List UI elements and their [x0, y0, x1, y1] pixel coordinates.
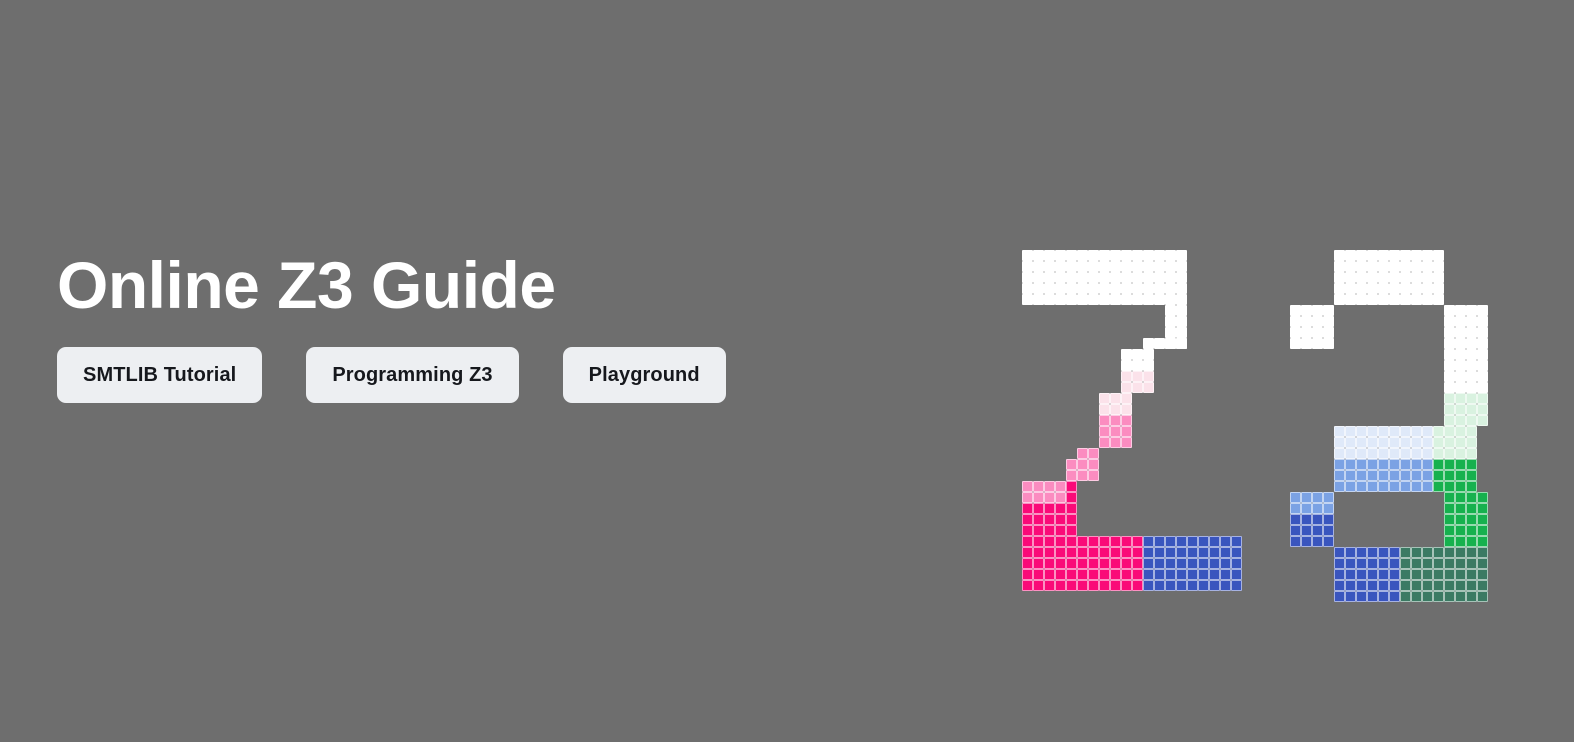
logo-pixel: [1044, 525, 1055, 536]
logo-pixel: [1433, 470, 1444, 481]
logo-pixel: [1378, 580, 1389, 591]
logo-pixel: [1066, 272, 1077, 283]
logo-pixel: [1154, 536, 1165, 547]
hero-button-row: SMTLIB Tutorial Programming Z3 Playgroun…: [57, 347, 977, 403]
logo-pixel: [1312, 525, 1323, 536]
logo-pixel: [1378, 459, 1389, 470]
logo-pixel: [1099, 426, 1110, 437]
logo-pixel: [1143, 338, 1154, 349]
logo-pixel: [1301, 327, 1312, 338]
logo-pixel: [1466, 371, 1477, 382]
logo-pixel: [1378, 426, 1389, 437]
logo-pixel: [1389, 558, 1400, 569]
logo-pixel: [1209, 547, 1220, 558]
logo-pixel: [1121, 393, 1132, 404]
logo-pixel: [1477, 569, 1488, 580]
logo-pixel: [1154, 261, 1165, 272]
logo-pixel: [1099, 250, 1110, 261]
logo-pixel: [1367, 470, 1378, 481]
logo-pixel: [1466, 338, 1477, 349]
logo-pixel: [1455, 591, 1466, 602]
logo-pixel: [1367, 569, 1378, 580]
logo-pixel: [1066, 503, 1077, 514]
z3-pixel-logo: [1012, 250, 1532, 595]
logo-pixel: [1444, 569, 1455, 580]
logo-pixel: [1301, 536, 1312, 547]
logo-pixel: [1022, 261, 1033, 272]
logo-pixel: [1433, 569, 1444, 580]
logo-pixel: [1033, 547, 1044, 558]
logo-pixel: [1389, 437, 1400, 448]
logo-pixel: [1165, 580, 1176, 591]
logo-pixel: [1334, 426, 1345, 437]
programming-z3-button[interactable]: Programming Z3: [306, 347, 518, 403]
logo-pixel: [1121, 415, 1132, 426]
logo-pixel: [1389, 569, 1400, 580]
logo-pixel: [1022, 250, 1033, 261]
logo-pixel: [1055, 492, 1066, 503]
logo-pixel: [1066, 481, 1077, 492]
logo-pixel: [1022, 580, 1033, 591]
logo-pixel: [1033, 536, 1044, 547]
logo-pixel: [1411, 250, 1422, 261]
logo-pixel: [1444, 525, 1455, 536]
logo-pixel: [1301, 525, 1312, 536]
logo-pixel: [1154, 580, 1165, 591]
logo-pixel: [1143, 261, 1154, 272]
logo-pixel: [1378, 272, 1389, 283]
logo-pixel: [1477, 404, 1488, 415]
logo-pixel: [1345, 558, 1356, 569]
logo-pixel: [1345, 580, 1356, 591]
logo-pixel: [1176, 283, 1187, 294]
logo-pixel: [1466, 514, 1477, 525]
logo-pixel: [1378, 481, 1389, 492]
logo-pixel: [1455, 514, 1466, 525]
logo-pixel: [1077, 272, 1088, 283]
logo-pixel: [1055, 569, 1066, 580]
logo-pixel: [1334, 261, 1345, 272]
logo-pixel: [1121, 294, 1132, 305]
logo-pixel: [1312, 305, 1323, 316]
logo-pixel: [1455, 305, 1466, 316]
logo-pixel: [1433, 261, 1444, 272]
logo-pixel: [1334, 481, 1345, 492]
logo-pixel: [1455, 415, 1466, 426]
logo-pixel: [1132, 371, 1143, 382]
logo-pixel: [1088, 272, 1099, 283]
logo-pixel: [1389, 591, 1400, 602]
logo-pixel: [1323, 503, 1334, 514]
logo-pixel: [1345, 272, 1356, 283]
logo-pixel: [1033, 294, 1044, 305]
logo-pixel: [1154, 294, 1165, 305]
logo-pixel: [1099, 404, 1110, 415]
logo-pixel: [1444, 349, 1455, 360]
logo-pixel: [1411, 558, 1422, 569]
logo-pixel: [1433, 250, 1444, 261]
logo-pixel: [1132, 261, 1143, 272]
logo-pixel: [1132, 250, 1143, 261]
logo-pixel: [1121, 349, 1132, 360]
logo-pixel: [1323, 492, 1334, 503]
logo-pixel: [1411, 580, 1422, 591]
logo-pixel: [1290, 503, 1301, 514]
logo-pixel: [1044, 514, 1055, 525]
logo-pixel: [1110, 569, 1121, 580]
logo-pixel: [1077, 261, 1088, 272]
logo-pixel: [1389, 272, 1400, 283]
logo-pixel: [1099, 558, 1110, 569]
logo-pixel: [1121, 404, 1132, 415]
logo-pixel: [1055, 503, 1066, 514]
logo-pixel: [1176, 580, 1187, 591]
logo-pixel: [1455, 404, 1466, 415]
logo-pixel: [1033, 283, 1044, 294]
logo-pixel: [1301, 305, 1312, 316]
logo-pixel: [1312, 316, 1323, 327]
logo-pixel: [1334, 459, 1345, 470]
logo-pixel: [1165, 261, 1176, 272]
logo-pixel: [1132, 349, 1143, 360]
logo-pixel: [1033, 250, 1044, 261]
logo-pixel: [1066, 261, 1077, 272]
logo-pixel: [1198, 536, 1209, 547]
smtlib-tutorial-button[interactable]: SMTLIB Tutorial: [57, 347, 262, 403]
logo-pixel: [1422, 294, 1433, 305]
logo-pixel: [1110, 283, 1121, 294]
logo-pixel: [1143, 272, 1154, 283]
logo-pixel: [1422, 426, 1433, 437]
logo-pixel: [1466, 569, 1477, 580]
logo-pixel: [1066, 569, 1077, 580]
logo-pixel: [1378, 569, 1389, 580]
logo-pixel: [1165, 294, 1176, 305]
logo-pixel: [1444, 558, 1455, 569]
logo-pixel: [1356, 580, 1367, 591]
logo-pixel: [1356, 569, 1367, 580]
logo-pixel: [1477, 547, 1488, 558]
logo-pixel: [1077, 536, 1088, 547]
logo-pixel: [1444, 580, 1455, 591]
logo-pixel: [1433, 481, 1444, 492]
logo-pixel: [1312, 338, 1323, 349]
logo-pixel: [1444, 437, 1455, 448]
logo-pixel: [1345, 470, 1356, 481]
logo-pixel: [1099, 283, 1110, 294]
logo-pixel: [1154, 250, 1165, 261]
logo-pixel: [1165, 305, 1176, 316]
logo-pixel: [1356, 272, 1367, 283]
logo-pixel: [1121, 558, 1132, 569]
logo-pixel: [1121, 283, 1132, 294]
logo-pixel: [1033, 525, 1044, 536]
logo-pixel: [1411, 448, 1422, 459]
logo-pixel: [1022, 536, 1033, 547]
logo-pixel: [1356, 481, 1367, 492]
logo-pixel: [1121, 360, 1132, 371]
logo-pixel: [1187, 558, 1198, 569]
logo-pixel: [1055, 514, 1066, 525]
logo-pixel: [1044, 503, 1055, 514]
logo-pixel: [1422, 558, 1433, 569]
logo-pixel: [1455, 371, 1466, 382]
logo-pixel: [1033, 580, 1044, 591]
logo-pixel: [1356, 426, 1367, 437]
logo-pixel: [1345, 547, 1356, 558]
logo-pixel: [1477, 580, 1488, 591]
logo-pixel: [1444, 470, 1455, 481]
logo-pixel: [1345, 569, 1356, 580]
logo-pixel: [1088, 294, 1099, 305]
logo-pixel: [1444, 492, 1455, 503]
logo-pixel: [1466, 426, 1477, 437]
logo-pixel: [1301, 514, 1312, 525]
logo-pixel: [1455, 459, 1466, 470]
logo-pixel: [1088, 250, 1099, 261]
logo-pixel: [1077, 558, 1088, 569]
logo-pixel: [1066, 459, 1077, 470]
logo-pixel: [1411, 437, 1422, 448]
logo-pixel: [1334, 250, 1345, 261]
logo-pixel: [1477, 591, 1488, 602]
logo-pixel: [1323, 536, 1334, 547]
logo-pixel: [1290, 525, 1301, 536]
logo-pixel: [1088, 558, 1099, 569]
logo-pixel: [1455, 481, 1466, 492]
logo-pixel: [1433, 558, 1444, 569]
logo-pixel: [1455, 536, 1466, 547]
logo-pixel: [1165, 316, 1176, 327]
logo-pixel: [1033, 261, 1044, 272]
logo-pixel: [1077, 470, 1088, 481]
logo-pixel: [1455, 360, 1466, 371]
logo-pixel: [1209, 569, 1220, 580]
logo-pixel: [1143, 371, 1154, 382]
logo-pixel: [1187, 569, 1198, 580]
logo-pixel: [1044, 250, 1055, 261]
logo-pixel: [1400, 459, 1411, 470]
logo-pixel: [1231, 536, 1242, 547]
logo-pixel: [1055, 580, 1066, 591]
logo-pixel: [1055, 272, 1066, 283]
logo-pixel: [1466, 305, 1477, 316]
logo-pixel: [1422, 591, 1433, 602]
logo-pixel: [1176, 569, 1187, 580]
logo-pixel: [1367, 459, 1378, 470]
logo-pixel: [1099, 580, 1110, 591]
logo-pixel: [1077, 283, 1088, 294]
logo-pixel: [1209, 580, 1220, 591]
logo-pixel: [1444, 371, 1455, 382]
logo-pixel: [1066, 492, 1077, 503]
logo-pixel: [1345, 294, 1356, 305]
logo-pixel: [1378, 547, 1389, 558]
logo-pixel: [1033, 481, 1044, 492]
logo-pixel: [1312, 514, 1323, 525]
logo-pixel: [1389, 470, 1400, 481]
logo-pixel: [1077, 250, 1088, 261]
logo-pixel: [1345, 437, 1356, 448]
logo-pixel: [1334, 272, 1345, 283]
logo-pixel: [1466, 415, 1477, 426]
logo-pixel: [1209, 558, 1220, 569]
logo-pixel: [1121, 437, 1132, 448]
logo-pixel: [1466, 448, 1477, 459]
logo-pixel: [1433, 426, 1444, 437]
logo-pixel: [1143, 536, 1154, 547]
logo-pixel: [1477, 360, 1488, 371]
logo-pixel: [1378, 250, 1389, 261]
logo-pixel: [1088, 283, 1099, 294]
logo-pixel: [1044, 536, 1055, 547]
logo-pixel: [1176, 305, 1187, 316]
logo-pixel: [1176, 250, 1187, 261]
logo-pixel: [1334, 591, 1345, 602]
logo-pixel: [1477, 371, 1488, 382]
logo-pixel: [1433, 283, 1444, 294]
logo-pixel: [1121, 272, 1132, 283]
logo-pixel: [1433, 547, 1444, 558]
logo-pixel: [1356, 261, 1367, 272]
logo-pixel: [1044, 558, 1055, 569]
logo-pixel: [1444, 547, 1455, 558]
logo-pixel: [1411, 481, 1422, 492]
logo-pixel: [1444, 305, 1455, 316]
logo-pixel: [1466, 327, 1477, 338]
logo-pixel: [1099, 569, 1110, 580]
logo-pixel: [1400, 283, 1411, 294]
logo-pixel: [1334, 448, 1345, 459]
logo-pixel: [1367, 437, 1378, 448]
logo-pixel: [1077, 448, 1088, 459]
logo-pixel: [1121, 580, 1132, 591]
logo-pixel: [1466, 349, 1477, 360]
logo-pixel: [1220, 547, 1231, 558]
logo-pixel: [1110, 261, 1121, 272]
logo-pixel: [1198, 547, 1209, 558]
logo-pixel: [1477, 349, 1488, 360]
logo-pixel: [1121, 536, 1132, 547]
logo-pixel: [1301, 492, 1312, 503]
logo-pixel: [1066, 558, 1077, 569]
logo-pixel: [1323, 327, 1334, 338]
logo-pixel: [1033, 514, 1044, 525]
logo-pixel: [1400, 569, 1411, 580]
logo-pixel: [1455, 393, 1466, 404]
playground-button[interactable]: Playground: [563, 347, 726, 403]
logo-pixel: [1066, 283, 1077, 294]
logo-pixel: [1367, 272, 1378, 283]
logo-pixel: [1055, 536, 1066, 547]
logo-pixel: [1334, 580, 1345, 591]
logo-pixel: [1022, 492, 1033, 503]
logo-pixel: [1378, 591, 1389, 602]
logo-pixel: [1455, 382, 1466, 393]
logo-pixel: [1378, 448, 1389, 459]
logo-pixel: [1389, 547, 1400, 558]
logo-pixel: [1334, 437, 1345, 448]
logo-pixel: [1110, 294, 1121, 305]
logo-pixel: [1400, 580, 1411, 591]
hero-left-column: Online Z3 Guide SMTLIB Tutorial Programm…: [57, 252, 977, 403]
logo-pixel: [1411, 591, 1422, 602]
logo-pixel: [1444, 514, 1455, 525]
logo-pixel: [1411, 547, 1422, 558]
logo-pixel: [1378, 558, 1389, 569]
logo-pixel: [1444, 338, 1455, 349]
logo-pixel: [1022, 283, 1033, 294]
logo-pixel: [1389, 283, 1400, 294]
logo-pixel: [1323, 514, 1334, 525]
logo-pixel: [1312, 536, 1323, 547]
logo-pixel: [1455, 470, 1466, 481]
logo-pixel: [1389, 426, 1400, 437]
logo-pixel: [1334, 547, 1345, 558]
logo-pixel: [1022, 525, 1033, 536]
logo-pixel: [1088, 470, 1099, 481]
logo-pixel: [1033, 272, 1044, 283]
logo-pixel: [1345, 448, 1356, 459]
logo-pixel: [1165, 338, 1176, 349]
logo-pixel: [1367, 261, 1378, 272]
logo-pixel: [1044, 547, 1055, 558]
logo-pixel: [1367, 426, 1378, 437]
logo-pixel: [1099, 415, 1110, 426]
logo-pixel: [1455, 558, 1466, 569]
logo-pixel: [1433, 580, 1444, 591]
logo-pixel: [1154, 547, 1165, 558]
logo-pixel: [1198, 558, 1209, 569]
logo-pixel: [1121, 547, 1132, 558]
logo-pixel: [1356, 459, 1367, 470]
logo-pixel: [1389, 481, 1400, 492]
logo-pixel: [1099, 536, 1110, 547]
logo-pixel: [1121, 569, 1132, 580]
logo-pixel: [1444, 415, 1455, 426]
logo-pixel: [1165, 327, 1176, 338]
logo-pixel: [1466, 503, 1477, 514]
logo-pixel: [1132, 536, 1143, 547]
logo-pixel: [1044, 481, 1055, 492]
logo-pixel: [1444, 459, 1455, 470]
logo-pixel: [1389, 580, 1400, 591]
logo-pixel: [1400, 272, 1411, 283]
logo-pixel: [1055, 283, 1066, 294]
logo-pixel: [1334, 294, 1345, 305]
logo-pixel: [1290, 305, 1301, 316]
logo-pixel: [1132, 569, 1143, 580]
logo-pixel: [1022, 569, 1033, 580]
logo-pixel: [1110, 437, 1121, 448]
logo-pixel: [1044, 569, 1055, 580]
logo-pixel: [1345, 261, 1356, 272]
logo-pixel: [1477, 382, 1488, 393]
logo-pixel: [1143, 250, 1154, 261]
logo-pixel: [1088, 547, 1099, 558]
logo-pixel: [1367, 558, 1378, 569]
logo-pixel: [1088, 261, 1099, 272]
logo-pixel: [1066, 294, 1077, 305]
logo-pixel: [1110, 547, 1121, 558]
logo-pixel: [1466, 492, 1477, 503]
logo-pixel: [1143, 360, 1154, 371]
logo-pixel: [1312, 503, 1323, 514]
logo-pixel: [1444, 404, 1455, 415]
logo-pixel: [1455, 547, 1466, 558]
logo-pixel: [1444, 382, 1455, 393]
logo-pixel: [1165, 250, 1176, 261]
